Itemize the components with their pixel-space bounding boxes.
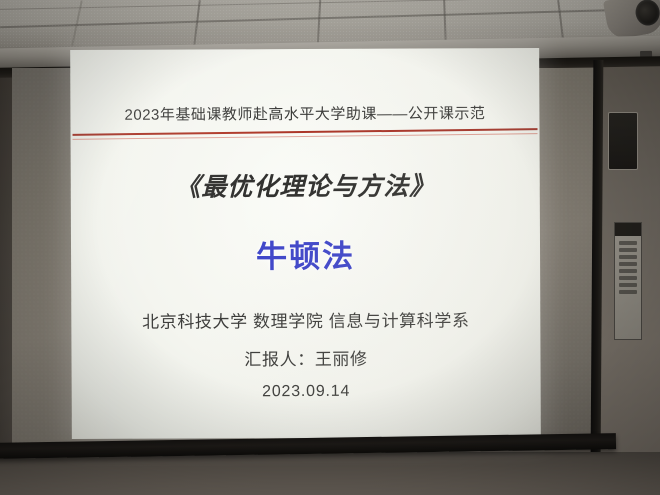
ceiling-grid-line xyxy=(71,0,82,45)
control-panel-button[interactable] xyxy=(619,269,637,273)
control-panel-button[interactable] xyxy=(619,290,637,294)
camera-lens-icon xyxy=(634,0,660,27)
control-panel-button[interactable] xyxy=(619,241,637,245)
projected-slide: 2023年基础课教师赴高水平大学助课——公开课示范 《最优化理论与方法》 牛顿法… xyxy=(70,48,541,439)
control-panel-buttons[interactable] xyxy=(619,241,637,333)
control-panel-button[interactable] xyxy=(619,255,637,259)
control-panel-button[interactable] xyxy=(619,262,637,266)
slide-affiliation: 北京科技大学 数理学院 信息与计算科学系 xyxy=(71,306,540,333)
ceiling-grid-line xyxy=(0,0,660,10)
classroom-photo-scene: 2023年基础课教师赴高水平大学助课——公开课示范 《最优化理论与方法》 牛顿法… xyxy=(0,0,660,495)
slide-header-text: 2023年基础课教师赴高水平大学助课——公开课示范 xyxy=(70,102,539,125)
ceiling-grid-line xyxy=(317,0,321,46)
control-panel-button[interactable] xyxy=(619,283,637,287)
slide-footer: 北京科技大学 数理学院 信息与计算科学系 汇报人：王丽修 2023.09.14 xyxy=(71,306,540,402)
wall-control-panel[interactable] xyxy=(614,222,642,340)
control-panel-button[interactable] xyxy=(619,248,637,252)
wall-lower-section xyxy=(0,452,660,495)
ceiling-grid-line xyxy=(0,8,660,28)
slide-topic-title: 牛顿法 xyxy=(71,230,540,277)
ceiling-grid-line xyxy=(193,0,200,46)
slide-course-title: 《最优化理论与方法》 xyxy=(71,166,540,204)
control-panel-button[interactable] xyxy=(619,276,637,280)
slide-presenter: 汇报人：王丽修 xyxy=(71,344,540,371)
wall-mounted-device xyxy=(608,112,638,170)
control-panel-header xyxy=(615,223,641,236)
slide-date: 2023.09.14 xyxy=(72,382,541,402)
